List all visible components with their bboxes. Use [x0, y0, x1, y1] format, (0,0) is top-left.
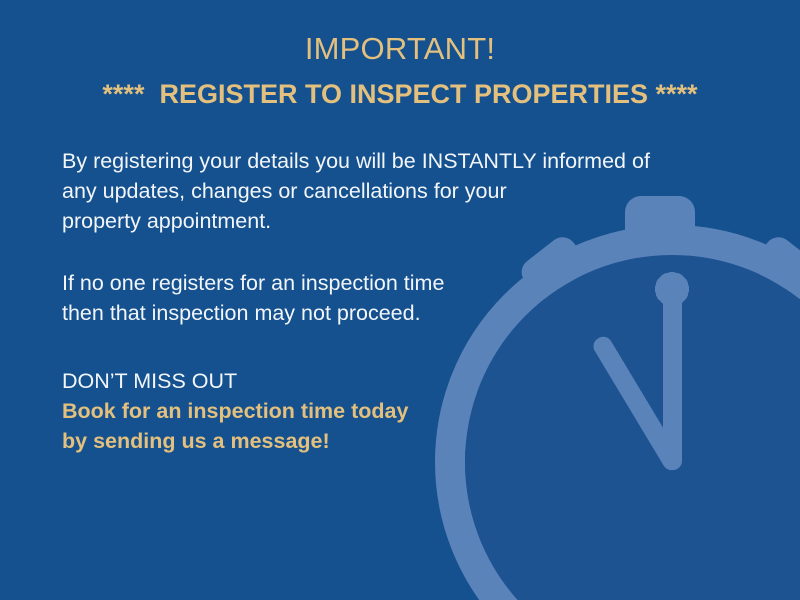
headline-important: IMPORTANT! — [0, 28, 800, 70]
slide-content: IMPORTANT! **** REGISTER TO INSPECT PROP… — [0, 0, 800, 600]
slide-canvas: IMPORTANT! **** REGISTER TO INSPECT PROP… — [0, 0, 800, 600]
cta-send-message: by sending us a message! — [62, 426, 582, 456]
call-to-action-block: DON’T MISS OUT Book for an inspection ti… — [62, 366, 582, 456]
body-block: By registering your details you will be … — [62, 146, 722, 328]
paragraph-registering-details: By registering your details you will be … — [62, 146, 722, 236]
cta-book-inspection: Book for an inspection time today — [62, 396, 582, 426]
cta-dont-miss-out: DON’T MISS OUT — [62, 366, 582, 396]
paragraph-no-registration-warning: If no one registers for an inspection ti… — [62, 268, 722, 328]
headline-register-to-inspect: **** REGISTER TO INSPECT PROPERTIES **** — [0, 74, 800, 114]
headline-block: IMPORTANT! **** REGISTER TO INSPECT PROP… — [0, 28, 800, 114]
